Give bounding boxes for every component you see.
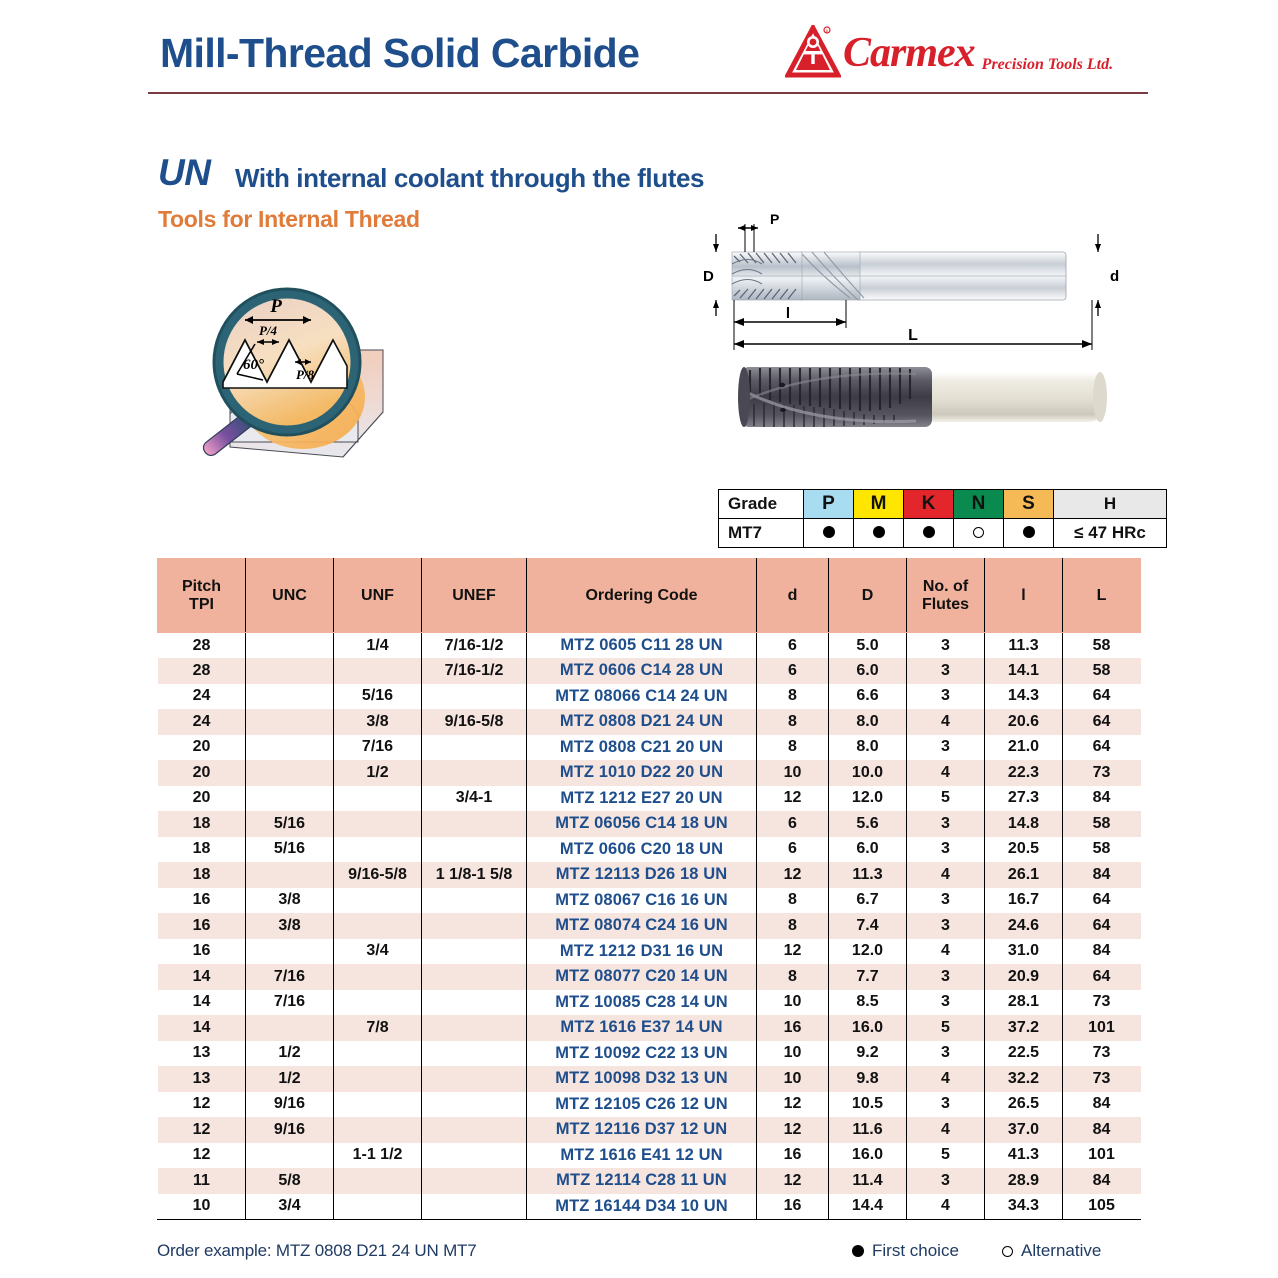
header-divider <box>148 92 1148 94</box>
cell-pitch: 20 <box>158 760 246 786</box>
cell-d-large: 16.0 <box>829 1143 907 1169</box>
cell-unc <box>246 684 334 710</box>
cell-unc <box>246 658 334 684</box>
cell-l-small: 20.6 <box>985 709 1063 735</box>
cell-d-large: 8.0 <box>829 735 907 761</box>
cell-l-large: 84 <box>1063 786 1141 812</box>
cell-l-large: 73 <box>1063 1041 1141 1067</box>
cell-d-small: 6 <box>757 633 829 659</box>
cell-unef <box>422 1194 527 1220</box>
cell-unf <box>334 1066 422 1092</box>
tool-photograph <box>720 352 1120 464</box>
cell-unef <box>422 990 527 1016</box>
grade-table-header-row: Grade P M K N S H <box>719 490 1167 519</box>
cell-d-small: 8 <box>757 888 829 914</box>
flutes-line1: No. of <box>923 578 968 595</box>
cell-flutes: 5 <box>907 1015 985 1041</box>
cell-l-large: 73 <box>1063 990 1141 1016</box>
column-header-unc: UNC <box>246 559 334 633</box>
cell-ordering-code: MTZ 1212 D31 16 UN <box>527 939 757 965</box>
cell-l-small: 34.3 <box>985 1194 1063 1220</box>
cell-d-large: 9.8 <box>829 1066 907 1092</box>
cell-unef <box>422 684 527 710</box>
column-header-ordering-code: Ordering Code <box>527 559 757 633</box>
cell-ordering-code: MTZ 0606 C20 18 UN <box>527 837 757 863</box>
cell-unc: 5/8 <box>246 1168 334 1194</box>
column-header-unf: UNF <box>334 559 422 633</box>
grade-mark-s <box>1004 519 1054 548</box>
table-row: 115/8MTZ 12114 C28 11 UN1211.4328.984 <box>158 1168 1141 1194</box>
column-header-l-large: L <box>1063 559 1141 633</box>
cell-l-large: 84 <box>1063 1117 1141 1143</box>
carmex-logo: R Carmex Precision Tools Ltd. <box>785 24 1113 82</box>
cell-d-large: 11.6 <box>829 1117 907 1143</box>
cell-unef <box>422 939 527 965</box>
page-header: Mill-Thread Solid Carbide R Carmex Preci… <box>0 0 1278 96</box>
cell-d-large: 5.6 <box>829 811 907 837</box>
cell-flutes: 3 <box>907 658 985 684</box>
cell-ordering-code: MTZ 12114 C28 11 UN <box>527 1168 757 1194</box>
cell-pitch: 24 <box>158 709 246 735</box>
cell-flutes: 5 <box>907 786 985 812</box>
first-choice-dot-icon <box>823 526 835 538</box>
cell-d-small: 12 <box>757 939 829 965</box>
svg-text:P: P <box>770 212 779 227</box>
svg-text:D: D <box>703 268 714 285</box>
cell-l-small: 24.6 <box>985 913 1063 939</box>
cell-l-small: 21.0 <box>985 735 1063 761</box>
page-title: Mill-Thread Solid Carbide <box>160 30 639 77</box>
cell-d-small: 16 <box>757 1015 829 1041</box>
cell-l-large: 84 <box>1063 862 1141 888</box>
cell-unef <box>422 811 527 837</box>
cell-l-large: 58 <box>1063 837 1141 863</box>
cell-pitch: 16 <box>158 939 246 965</box>
grade-header-k: K <box>904 490 954 519</box>
cell-l-small: 32.2 <box>985 1066 1063 1092</box>
cell-unf <box>334 913 422 939</box>
cell-unc: 3/8 <box>246 913 334 939</box>
table-row: 185/16MTZ 06056 C14 18 UN65.6314.858 <box>158 811 1141 837</box>
cell-unf <box>334 811 422 837</box>
cell-l-small: 16.7 <box>985 888 1063 914</box>
cell-unf <box>334 1117 422 1143</box>
cell-l-large: 64 <box>1063 888 1141 914</box>
cell-d-large: 10.5 <box>829 1092 907 1118</box>
cell-l-large: 64 <box>1063 964 1141 990</box>
column-header-unef: UNEF <box>422 559 527 633</box>
cell-l-small: 28.1 <box>985 990 1063 1016</box>
cell-d-large: 10.0 <box>829 760 907 786</box>
table-row: 147/16MTZ 10085 C28 14 UN108.5328.173 <box>158 990 1141 1016</box>
table-row: 163/4MTZ 1212 D31 16 UN1212.0431.084 <box>158 939 1141 965</box>
cell-l-large: 73 <box>1063 1066 1141 1092</box>
grade-mark-n <box>954 519 1004 548</box>
table-row: 163/8MTZ 08074 C24 16 UN87.4324.664 <box>158 913 1141 939</box>
grade-header-label: Grade <box>719 490 804 519</box>
cell-unf: 3/4 <box>334 939 422 965</box>
cell-l-small: 26.1 <box>985 862 1063 888</box>
table-row: 203/4-1MTZ 1212 E27 20 UN1212.0527.384 <box>158 786 1141 812</box>
cell-d-small: 12 <box>757 1168 829 1194</box>
cell-l-small: 11.3 <box>985 633 1063 659</box>
legend-first-choice: First choice <box>852 1241 959 1261</box>
cell-flutes: 3 <box>907 735 985 761</box>
carmex-triangle-logo-icon: R <box>785 25 841 81</box>
cell-d-large: 9.2 <box>829 1041 907 1067</box>
cell-l-large: 73 <box>1063 760 1141 786</box>
cell-l-small: 27.3 <box>985 786 1063 812</box>
cell-unf <box>334 658 422 684</box>
cell-unc <box>246 709 334 735</box>
cell-l-large: 58 <box>1063 633 1141 659</box>
cell-flutes: 3 <box>907 1041 985 1067</box>
tool-dimension-diagram: P D d l L <box>690 212 1135 357</box>
cell-unc <box>246 939 334 965</box>
cell-l-small: 14.1 <box>985 658 1063 684</box>
cell-ordering-code: MTZ 0808 C21 20 UN <box>527 735 757 761</box>
table-row: 103/4MTZ 16144 D34 10 UN1614.4434.3105 <box>158 1194 1141 1220</box>
table-row: 147/8MTZ 1616 E37 14 UN1616.0537.2101 <box>158 1015 1141 1041</box>
cell-d-large: 6.6 <box>829 684 907 710</box>
column-header-l-small: l <box>985 559 1063 633</box>
cell-ordering-code: MTZ 16144 D34 10 UN <box>527 1194 757 1220</box>
cell-d-large: 6.0 <box>829 658 907 684</box>
cell-flutes: 3 <box>907 633 985 659</box>
column-header-pitch: Pitch TPI <box>158 559 246 633</box>
cell-unf: 7/16 <box>334 735 422 761</box>
cell-l-large: 101 <box>1063 1015 1141 1041</box>
cell-pitch: 28 <box>158 658 246 684</box>
cell-pitch: 12 <box>158 1092 246 1118</box>
alternative-dot-icon <box>973 527 984 538</box>
cell-l-large: 64 <box>1063 709 1141 735</box>
cell-l-large: 64 <box>1063 684 1141 710</box>
cell-flutes: 4 <box>907 760 985 786</box>
cell-pitch: 18 <box>158 862 246 888</box>
legend-alternative: Alternative <box>1002 1241 1101 1261</box>
grade-header-n: N <box>954 490 1004 519</box>
table-row: 245/16MTZ 08066 C14 24 UN86.6314.364 <box>158 684 1141 710</box>
cell-ordering-code: MTZ 08066 C14 24 UN <box>527 684 757 710</box>
cell-ordering-code: MTZ 08074 C24 16 UN <box>527 913 757 939</box>
cell-d-small: 6 <box>757 658 829 684</box>
cell-pitch: 12 <box>158 1117 246 1143</box>
cell-ordering-code: MTZ 1616 E41 12 UN <box>527 1143 757 1169</box>
table-row: 129/16MTZ 12105 C26 12 UN1210.5326.584 <box>158 1092 1141 1118</box>
svg-text:P/4: P/4 <box>259 323 278 338</box>
first-choice-dot-icon <box>873 526 885 538</box>
cell-l-small: 20.9 <box>985 964 1063 990</box>
cell-unc: 9/16 <box>246 1117 334 1143</box>
cell-unc <box>246 786 334 812</box>
cell-ordering-code: MTZ 10098 D32 13 UN <box>527 1066 757 1092</box>
order-example: Order example: MTZ 0808 D21 24 UN MT7 <box>157 1241 477 1261</box>
cell-unef <box>422 1066 527 1092</box>
cell-d-large: 11.3 <box>829 862 907 888</box>
cell-ordering-code: MTZ 06056 C14 18 UN <box>527 811 757 837</box>
cell-unef <box>422 1015 527 1041</box>
cell-flutes: 4 <box>907 939 985 965</box>
cell-ordering-code: MTZ 1616 E37 14 UN <box>527 1015 757 1041</box>
cell-flutes: 3 <box>907 811 985 837</box>
cell-ordering-code: MTZ 12105 C26 12 UN <box>527 1092 757 1118</box>
cell-pitch: 20 <box>158 786 246 812</box>
first-choice-dot-icon <box>1023 526 1035 538</box>
grade-header-h: H <box>1054 490 1167 519</box>
cell-unef <box>422 1117 527 1143</box>
cell-flutes: 4 <box>907 1066 985 1092</box>
cell-unc: 7/16 <box>246 964 334 990</box>
cell-d-small: 12 <box>757 1117 829 1143</box>
cell-ordering-code: MTZ 08067 C16 16 UN <box>527 888 757 914</box>
cell-flutes: 3 <box>907 1168 985 1194</box>
cell-d-large: 8.5 <box>829 990 907 1016</box>
pitch-line1: Pitch <box>182 578 221 595</box>
cell-d-small: 16 <box>757 1143 829 1169</box>
column-header-d-small: d <box>757 559 829 633</box>
cell-l-small: 22.5 <box>985 1041 1063 1067</box>
table-row: 129/16MTZ 12116 D37 12 UN1211.6437.084 <box>158 1117 1141 1143</box>
cell-pitch: 12 <box>158 1143 246 1169</box>
cell-unf <box>334 990 422 1016</box>
cell-d-large: 8.0 <box>829 709 907 735</box>
cell-l-small: 26.5 <box>985 1092 1063 1118</box>
cell-unef <box>422 1092 527 1118</box>
cell-pitch: 10 <box>158 1194 246 1220</box>
cell-unf: 3/8 <box>334 709 422 735</box>
cell-unef: 7/16-1/2 <box>422 633 527 659</box>
grade-table: Grade P M K N S H MT7 ≤ 47 HRc <box>718 489 1167 548</box>
cell-unf: 1-1 1/2 <box>334 1143 422 1169</box>
flutes-line2: Flutes <box>922 596 969 613</box>
cell-pitch: 20 <box>158 735 246 761</box>
cell-ordering-code: MTZ 1212 E27 20 UN <box>527 786 757 812</box>
table-row: 131/2MTZ 10098 D32 13 UN109.8432.273 <box>158 1066 1141 1092</box>
cell-pitch: 14 <box>158 1015 246 1041</box>
cell-d-small: 10 <box>757 760 829 786</box>
cell-unef <box>422 964 527 990</box>
cell-d-large: 16.0 <box>829 1015 907 1041</box>
cell-l-small: 22.3 <box>985 760 1063 786</box>
cell-l-small: 31.0 <box>985 939 1063 965</box>
cell-l-small: 28.9 <box>985 1168 1063 1194</box>
cell-ordering-code: MTZ 1010 D22 20 UN <box>527 760 757 786</box>
legend-first-choice-label: First choice <box>872 1241 959 1261</box>
column-header-d-large: D <box>829 559 907 633</box>
alternative-dot-icon <box>1002 1246 1013 1257</box>
cell-flutes: 4 <box>907 709 985 735</box>
cell-ordering-code: MTZ 10085 C28 14 UN <box>527 990 757 1016</box>
cell-ordering-code: MTZ 12113 D26 18 UN <box>527 862 757 888</box>
product-table-body: 281/47/16-1/2MTZ 0605 C11 28 UN65.0311.3… <box>158 633 1141 1220</box>
cell-pitch: 13 <box>158 1041 246 1067</box>
cell-pitch: 16 <box>158 913 246 939</box>
cell-unc <box>246 760 334 786</box>
table-row: 207/16MTZ 0808 C21 20 UN88.0321.064 <box>158 735 1141 761</box>
catalog-page: Mill-Thread Solid Carbide R Carmex Preci… <box>0 0 1278 1278</box>
cell-d-small: 10 <box>757 1066 829 1092</box>
cell-d-large: 6.7 <box>829 888 907 914</box>
cell-l-large: 84 <box>1063 1092 1141 1118</box>
cell-unc <box>246 1143 334 1169</box>
product-table-header-row: Pitch TPI UNC UNF UNEF Ordering Code d D… <box>158 559 1141 633</box>
cell-flutes: 3 <box>907 990 985 1016</box>
cell-ordering-code: MTZ 0606 C14 28 UN <box>527 658 757 684</box>
table-row: 121-1 1/2MTZ 1616 E41 12 UN1616.0541.310… <box>158 1143 1141 1169</box>
cell-pitch: 28 <box>158 633 246 659</box>
cell-d-small: 12 <box>757 786 829 812</box>
cell-d-small: 8 <box>757 735 829 761</box>
cell-unef <box>422 1143 527 1169</box>
cell-d-small: 8 <box>757 913 829 939</box>
cell-unc <box>246 862 334 888</box>
cell-unf <box>334 1041 422 1067</box>
cell-d-small: 8 <box>757 684 829 710</box>
cell-l-large: 105 <box>1063 1194 1141 1220</box>
cell-d-small: 10 <box>757 1041 829 1067</box>
cell-d-small: 8 <box>757 709 829 735</box>
grade-mark-k <box>904 519 954 548</box>
cell-d-small: 8 <box>757 964 829 990</box>
cell-d-large: 7.4 <box>829 913 907 939</box>
cell-pitch: 11 <box>158 1168 246 1194</box>
cell-unef: 7/16-1/2 <box>422 658 527 684</box>
cell-d-small: 16 <box>757 1194 829 1220</box>
cell-unef <box>422 735 527 761</box>
cell-ordering-code: MTZ 12116 D37 12 UN <box>527 1117 757 1143</box>
cell-unc: 9/16 <box>246 1092 334 1118</box>
cell-flutes: 3 <box>907 913 985 939</box>
cell-unf <box>334 888 422 914</box>
cell-flutes: 3 <box>907 964 985 990</box>
svg-text:R: R <box>826 28 829 33</box>
cell-l-small: 20.5 <box>985 837 1063 863</box>
grade-header-m: M <box>854 490 904 519</box>
grade-header-p: P <box>804 490 854 519</box>
svg-text:l: l <box>786 305 790 322</box>
cell-pitch: 16 <box>158 888 246 914</box>
cell-flutes: 4 <box>907 1117 985 1143</box>
cell-unef <box>422 888 527 914</box>
cell-flutes: 3 <box>907 684 985 710</box>
cell-unf: 9/16-5/8 <box>334 862 422 888</box>
cell-flutes: 5 <box>907 1143 985 1169</box>
cell-unc: 3/8 <box>246 888 334 914</box>
cell-unc <box>246 735 334 761</box>
cell-d-large: 12.0 <box>829 939 907 965</box>
cell-flutes: 4 <box>907 862 985 888</box>
grade-mark-p <box>804 519 854 548</box>
cell-pitch: 18 <box>158 811 246 837</box>
product-table: Pitch TPI UNC UNF UNEF Ordering Code d D… <box>157 558 1141 1220</box>
cell-l-large: 64 <box>1063 913 1141 939</box>
cell-d-small: 6 <box>757 837 829 863</box>
table-row: 147/16MTZ 08077 C20 14 UN87.7320.964 <box>158 964 1141 990</box>
grade-header-s: S <box>1004 490 1054 519</box>
cell-flutes: 3 <box>907 1092 985 1118</box>
cell-ordering-code: MTZ 10092 C22 13 UN <box>527 1041 757 1067</box>
table-row: 189/16-5/81 1/8-1 5/8MTZ 12113 D26 18 UN… <box>158 862 1141 888</box>
cell-l-large: 64 <box>1063 735 1141 761</box>
pitch-line2: TPI <box>189 596 214 613</box>
cell-pitch: 14 <box>158 964 246 990</box>
table-row: 201/2MTZ 1010 D22 20 UN1010.0422.373 <box>158 760 1141 786</box>
svg-text:P/8: P/8 <box>296 367 315 382</box>
table-row: 185/16MTZ 0606 C20 18 UN66.0320.558 <box>158 837 1141 863</box>
cell-unef: 3/4-1 <box>422 786 527 812</box>
svg-text:P: P <box>269 296 282 317</box>
cell-d-large: 5.0 <box>829 633 907 659</box>
cell-d-large: 14.4 <box>829 1194 907 1220</box>
cell-d-small: 12 <box>757 1092 829 1118</box>
table-row: 287/16-1/2MTZ 0606 C14 28 UN66.0314.158 <box>158 658 1141 684</box>
svg-text:60°: 60° <box>243 357 264 373</box>
cell-l-large: 84 <box>1063 1168 1141 1194</box>
table-row: 163/8MTZ 08067 C16 16 UN86.7316.764 <box>158 888 1141 914</box>
cell-ordering-code: MTZ 0808 D21 24 UN <box>527 709 757 735</box>
cell-unf: 7/8 <box>334 1015 422 1041</box>
cell-unc: 5/16 <box>246 811 334 837</box>
cell-pitch: 13 <box>158 1066 246 1092</box>
cell-unf <box>334 786 422 812</box>
cell-unf: 1/4 <box>334 633 422 659</box>
cell-unf <box>334 837 422 863</box>
cell-unef: 1 1/8-1 5/8 <box>422 862 527 888</box>
cell-unc: 5/16 <box>246 837 334 863</box>
cell-d-large: 7.7 <box>829 964 907 990</box>
cell-pitch: 24 <box>158 684 246 710</box>
cell-l-small: 14.3 <box>985 684 1063 710</box>
table-row: 131/2MTZ 10092 C22 13 UN109.2322.573 <box>158 1041 1141 1067</box>
cell-unf <box>334 1168 422 1194</box>
thread-profile-illustration: P P/4 P/8 60° <box>175 262 425 487</box>
cell-l-large: 84 <box>1063 939 1141 965</box>
cell-flutes: 3 <box>907 837 985 863</box>
column-header-flutes: No. of Flutes <box>907 559 985 633</box>
grade-table-row-mt7: MT7 ≤ 47 HRc <box>719 519 1167 548</box>
series-headline: With internal coolant through the flutes <box>235 163 704 194</box>
cell-unc: 7/16 <box>246 990 334 1016</box>
cell-unf: 1/2 <box>334 760 422 786</box>
cell-flutes: 3 <box>907 888 985 914</box>
cell-d-small: 12 <box>757 862 829 888</box>
cell-unef <box>422 837 527 863</box>
cell-unef <box>422 913 527 939</box>
grade-name: MT7 <box>719 519 804 548</box>
cell-flutes: 4 <box>907 1194 985 1220</box>
cell-unef: 9/16-5/8 <box>422 709 527 735</box>
cell-unf <box>334 1194 422 1220</box>
cell-d-large: 11.4 <box>829 1168 907 1194</box>
cell-l-small: 37.2 <box>985 1015 1063 1041</box>
cell-unf <box>334 1092 422 1118</box>
cell-unc: 1/2 <box>246 1041 334 1067</box>
cell-l-large: 58 <box>1063 658 1141 684</box>
cell-unc: 1/2 <box>246 1066 334 1092</box>
cell-l-small: 14.8 <box>985 811 1063 837</box>
grade-mark-m <box>854 519 904 548</box>
cell-unef <box>422 1168 527 1194</box>
cell-unc <box>246 633 334 659</box>
cell-l-large: 101 <box>1063 1143 1141 1169</box>
cell-unf <box>334 964 422 990</box>
table-row: 281/47/16-1/2MTZ 0605 C11 28 UN65.0311.3… <box>158 633 1141 659</box>
logo-tagline: Precision Tools Ltd. <box>982 56 1113 82</box>
cell-pitch: 14 <box>158 990 246 1016</box>
svg-text:d: d <box>1110 268 1119 285</box>
cell-d-small: 6 <box>757 811 829 837</box>
